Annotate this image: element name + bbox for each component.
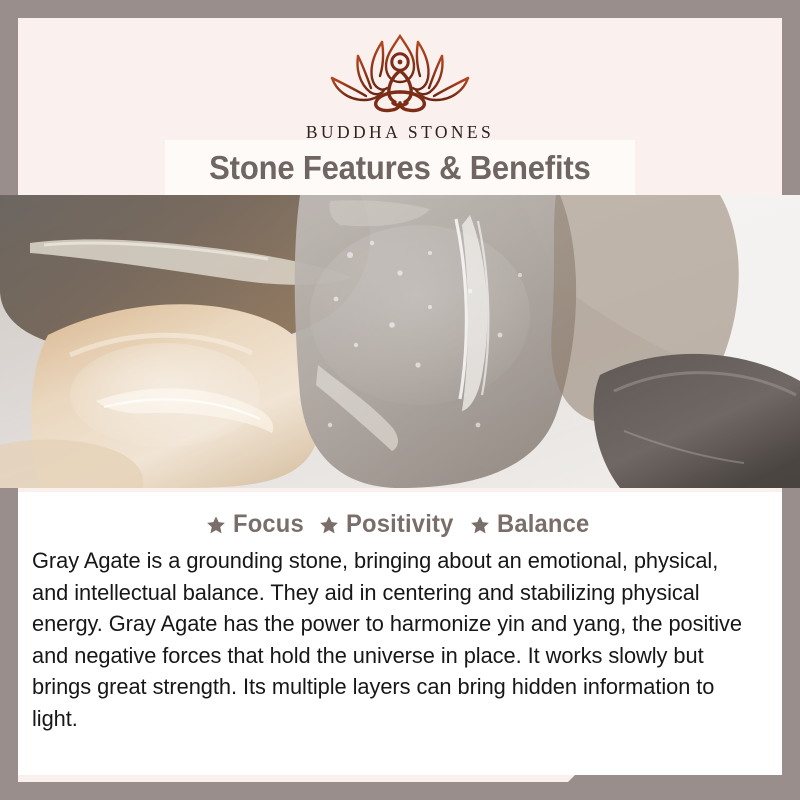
keyword-label: Focus bbox=[233, 510, 304, 539]
infographic-canvas: BUDDHA STONES Stone Features & Benefits bbox=[0, 0, 800, 800]
keyword-item: Balance bbox=[470, 510, 594, 539]
lotus-meditation-figure-icon bbox=[314, 26, 486, 118]
star-icon bbox=[206, 515, 226, 535]
keyword-label: Positivity bbox=[346, 510, 453, 539]
stone-description: Gray Agate is a grounding stone, bringin… bbox=[32, 545, 742, 734]
stone-photo-illustration bbox=[0, 195, 800, 488]
star-icon bbox=[319, 515, 339, 535]
stone-photo: Gray Agate bbox=[0, 195, 800, 488]
keyword-list: Focus Positivity Balance bbox=[18, 510, 782, 539]
description-panel: Focus Positivity Balance Gray Agate is a… bbox=[18, 492, 782, 775]
title-banner: Stone Features & Benefits bbox=[165, 140, 635, 195]
page-title: Stone Features & Benefits bbox=[209, 149, 590, 187]
keyword-label: Balance bbox=[497, 510, 589, 539]
brand-logo: BUDDHA STONES bbox=[18, 26, 782, 143]
keyword-item: Focus bbox=[206, 510, 308, 539]
star-icon bbox=[470, 515, 490, 535]
header-section: BUDDHA STONES Stone Features & Benefits bbox=[18, 18, 782, 195]
keyword-item: Positivity bbox=[319, 510, 459, 539]
